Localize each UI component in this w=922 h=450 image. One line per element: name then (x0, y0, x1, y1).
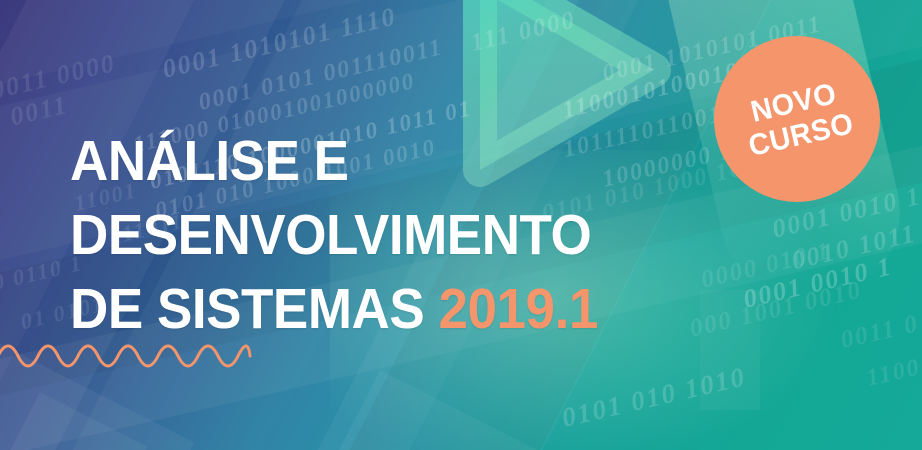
novo-curso-badge: NOVO CURSO (714, 36, 880, 202)
title-line-3-text: DE SISTEMAS (70, 277, 438, 341)
course-year: 2019.1 (438, 277, 597, 341)
title-line-3: DE SISTEMAS 2019.1 (70, 272, 598, 346)
title-line-2-text: DESENVOLVIMENTO (70, 203, 591, 267)
binary-text-row: 0011 0000 (0, 48, 119, 106)
accent-rectangle (700, 290, 760, 410)
binary-text-row: 0011 (7, 90, 71, 132)
title-line-2: DESENVOLVIMENTO (70, 198, 598, 272)
binary-text-row: 0011 0 1 (838, 305, 922, 355)
binary-text-row: 1100 01 (864, 346, 922, 393)
binary-text-row: 0101 010 1010 (559, 361, 749, 433)
accent-rectangle (312, 370, 540, 450)
binary-text-row: 0001 0101 001110011 (196, 34, 446, 117)
title-line-1-text: ANÁLISE E (70, 129, 349, 193)
binary-text-row: 0001 1010101 1110 (160, 1, 400, 84)
binary-text-row: 000 1001 0010 (687, 277, 865, 344)
accent-rectangle (0, 392, 147, 450)
badge-text-group: NOVO CURSO (736, 74, 859, 163)
binary-text-row: 0001 0010 1 (741, 251, 896, 314)
banner-title: ANÁLISE E DESENVOLVIMENTO DE SISTEMAS 20… (70, 124, 638, 346)
binary-text-row: 0010 1011 01 (789, 210, 922, 276)
course-promo-banner: 0011 000000110001 1010101 11100001 0101 … (0, 0, 922, 450)
binary-text-row: 0000 010 1 (699, 237, 834, 294)
binary-text-row: 111 0000 (468, 6, 579, 57)
title-line-1: ANÁLISE E (70, 124, 598, 198)
